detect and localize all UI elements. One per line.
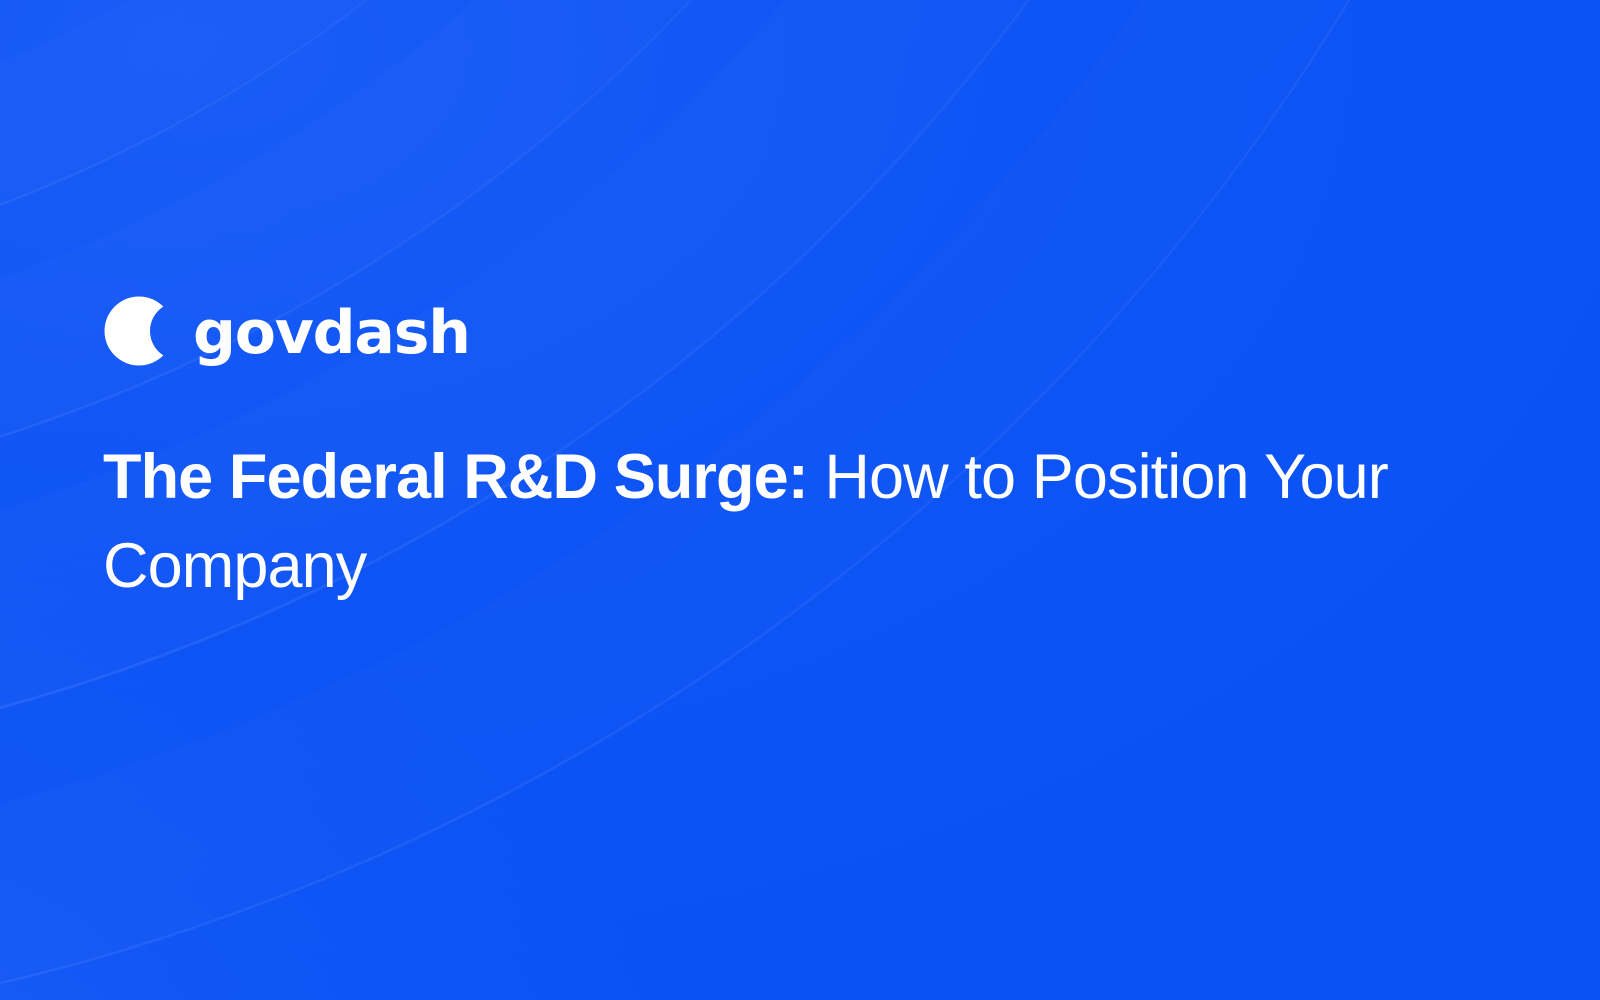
brand-lockup: govdash	[103, 290, 470, 372]
govdash-crescent-logo-icon	[103, 295, 175, 367]
page-title-emphasis: The Federal R&D Surge:	[103, 442, 808, 512]
brand-wordmark: govdash	[193, 303, 470, 363]
share-card: govdash The Federal R&D Surge: How to Po…	[0, 0, 1600, 1000]
page-title: The Federal R&D Surge: How to Position Y…	[103, 433, 1403, 612]
card-content: govdash The Federal R&D Surge: How to Po…	[0, 0, 1600, 1000]
